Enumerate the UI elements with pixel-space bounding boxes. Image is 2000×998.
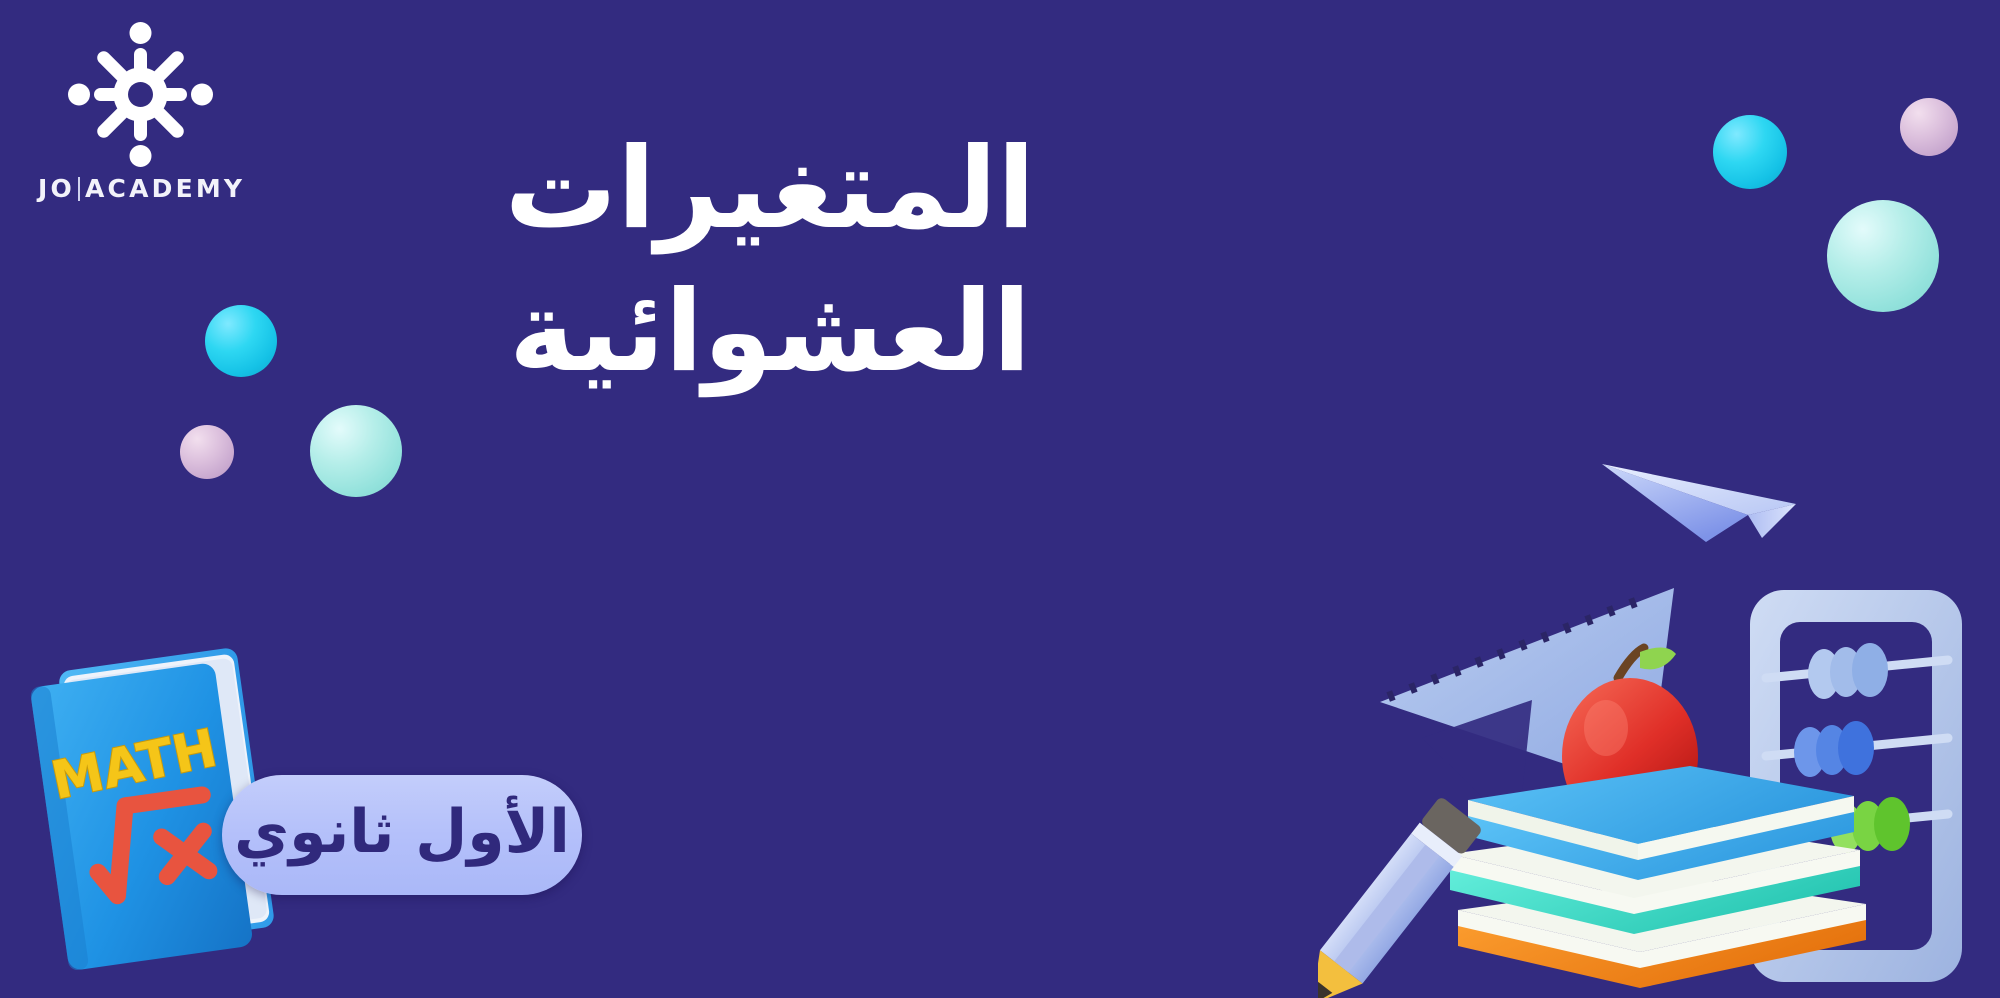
sphere-mint-left: [310, 405, 402, 497]
brand-divider: [78, 177, 80, 201]
lesson-cover-banner: JOACADEMY المتغيرات العشوائية: [0, 0, 2000, 998]
sphere-cyan-left: [205, 305, 277, 377]
sphere-mint-right: [1827, 200, 1939, 312]
brand-logo[interactable]: JOACADEMY: [38, 22, 268, 222]
brand-name-left: JO: [38, 174, 75, 203]
sphere-pink-left: [180, 425, 234, 479]
pencil-icon: [1318, 796, 1483, 998]
title-line-1: المتغيرات: [430, 118, 1110, 261]
page-title: المتغيرات العشوائية: [430, 118, 1110, 405]
grade-badge-label: الأول ثانوي: [234, 797, 570, 873]
sphere-cyan-right: [1713, 115, 1787, 189]
education-illustration: [1318, 560, 2000, 998]
grade-badge[interactable]: الأول ثانوي: [222, 775, 582, 895]
paper-plane-icon: [1598, 452, 1808, 562]
joacademy-star-icon: [68, 22, 213, 167]
sphere-pink-right: [1900, 98, 1958, 156]
brand-wordmark: JOACADEMY: [38, 174, 268, 203]
brand-name-right: ACADEMY: [85, 174, 245, 203]
title-line-2: العشوائية: [430, 261, 1110, 404]
